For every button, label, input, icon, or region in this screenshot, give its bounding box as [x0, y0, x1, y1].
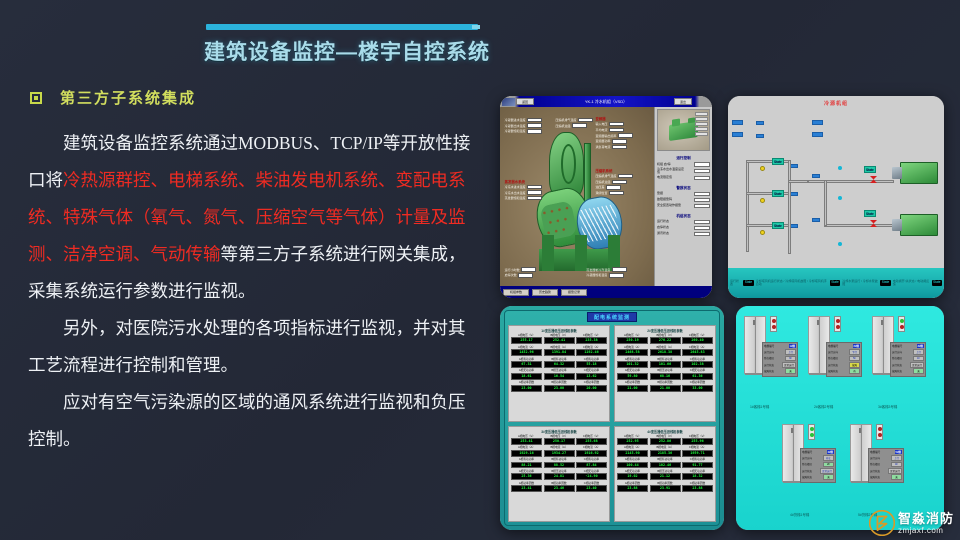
meter-value: 59.80	[617, 373, 648, 380]
meter-value: 23.46	[544, 485, 575, 492]
field-label: 蒸发器饱和温度	[505, 196, 526, 200]
meter-cell: A相功率因数23.00	[511, 381, 542, 391]
power-screen-title: 配电系统监测	[587, 312, 637, 322]
state-badge[interactable]: State	[864, 166, 876, 173]
side-row-value[interactable]	[694, 162, 710, 167]
meter-cell: C相电流（A）1916.92	[576, 446, 607, 456]
field-label: 冷凝器出水温度	[505, 124, 526, 128]
elevator-status-panel[interactable]: 电梯编号3#梯 运行方向上行 所在楼层1F 运行状态正常运行 故障状态无	[890, 342, 926, 377]
piping-schematic: 冷源机组 State State S	[728, 96, 944, 298]
screenshot-panel-elevator: 电梯编号1#梯 运行方向上行 所在楼层3F 运行状态正常运行 故障状态无 1#客…	[736, 306, 944, 530]
field-label: 油压差	[595, 185, 604, 189]
pipe-tag[interactable]	[790, 192, 798, 196]
quadrant-cells: A相电压（V）250.19 B相电压（V）276.22 C相电压（V）260.4…	[617, 334, 713, 392]
row-value: 3F	[785, 356, 796, 361]
field-group-condenser: 冷凝器进水温度 冷凝器出水温度 冷凝器饱和温度	[505, 118, 543, 135]
pipe-tag[interactable]	[812, 120, 823, 125]
field-label: 压缩机排气温度	[595, 174, 616, 178]
field-value-box[interactable]	[527, 123, 542, 128]
meter-value: 21.12	[650, 473, 681, 480]
side-row-label: 电流限定值	[657, 176, 672, 179]
field-value-box[interactable]	[609, 122, 624, 127]
field-value-box[interactable]	[612, 145, 627, 150]
row-label: 故障状态	[764, 369, 774, 373]
row-label: 运行方向	[892, 350, 902, 354]
state-badge[interactable]: State	[772, 190, 784, 197]
meter-cell: C相有功功率91.77	[682, 458, 713, 468]
field-group-title: 蒸发器水系统	[505, 179, 543, 184]
meter-cell: B相有功功率101.66	[650, 358, 681, 368]
pipe-tag[interactable]	[812, 218, 820, 222]
field-group-extra: 蒸发器制冷剂温度 冷凝器饱和温度	[586, 267, 627, 278]
meter-cell: C相无功功率-24.90	[576, 470, 607, 480]
side-row-value[interactable]	[694, 226, 710, 231]
field-label: 压缩机油温	[595, 180, 610, 184]
field-label: 变频器输出频率	[595, 134, 616, 138]
elevator-status-panel[interactable]: 电梯编号2#梯 运行方向下行 所在楼层5F 运行状态故障 故障状态有	[826, 342, 862, 377]
sensor-icon	[838, 242, 842, 246]
meter-value: 2645.83	[682, 349, 713, 356]
meter-cell: C相无功功率18.32	[682, 470, 713, 480]
meter-value: 252.86	[650, 438, 681, 445]
quadrant-title: 4#变压器低压进线柜参数	[617, 429, 713, 434]
chiller-body: 冷凝器进水温度 冷凝器出水温度 冷凝器饱和温度 压缩机排气温度 压缩机油温 蒸发…	[500, 107, 712, 286]
meter-value: 23.88	[617, 485, 648, 492]
row-label: 运行状态	[764, 363, 774, 367]
screenshot-panel-power: 配电系统监测 1#变压器低压进线柜参数 A相电压（V）255.17 B相电压（V…	[500, 306, 724, 530]
chiller-unit-graphic	[900, 214, 938, 236]
panel-header-value: 2#梯	[853, 344, 860, 348]
power-quadrant: 4#变压器低压进线柜参数 A相电压（V）252.95 B相电压（V）252.86…	[614, 426, 716, 523]
meter-value: 67.31	[511, 361, 542, 368]
quadrant-title: 2#变压器低压进线柜参数	[617, 328, 713, 333]
field-value-box[interactable]	[527, 129, 542, 134]
meter-cell: B相无功功率21.12	[650, 470, 681, 480]
meter-cell: B相功率因数21.00	[650, 381, 681, 391]
elevator-indicator-lights	[876, 424, 883, 440]
side-row-value[interactable]	[694, 169, 710, 174]
meter-value: 25.36	[511, 473, 542, 480]
watermark: 智淼消防 zmjaxf.com	[869, 510, 954, 536]
chiller-unit-graphic	[900, 162, 938, 184]
bottom-button-trend[interactable]: 历史趋势	[532, 289, 558, 296]
status-state-box[interactable]: State	[743, 280, 753, 286]
field-label: 平均电流	[595, 128, 607, 132]
screenshot-panel-piping: 冷源机组 State State S	[728, 96, 944, 298]
meter-value: 23.00	[511, 385, 542, 392]
pipe-tag[interactable]	[812, 174, 820, 178]
elevator-status-panel[interactable]: 电梯编号5#梯 运行方向上行 所在楼层4F 运行状态正常运行 故障状态无	[868, 448, 904, 483]
quadrant-title: 1#变压器低压进线柜参数	[511, 328, 607, 333]
meter-value: 18.32	[682, 473, 713, 480]
meter-cell: A相无功功率19.02	[617, 470, 648, 480]
meter-cell: A相电流（A）2468.58	[617, 346, 648, 356]
row-value: 正常运行	[910, 362, 924, 368]
elevator-status-panel[interactable]: 电梯编号4#梯 运行方向停止 所在楼层2F 运行状态正常运行 故障状态无	[800, 448, 836, 483]
chiller-3d-graphic	[537, 132, 623, 268]
field-value-box[interactable]	[609, 273, 624, 278]
meter-cell: C相电流（A）2645.83	[682, 346, 713, 356]
panel-header-label: 电梯编号	[892, 344, 902, 348]
panel-header-value: 1#梯	[789, 344, 796, 348]
state-badge[interactable]: State	[864, 210, 876, 217]
vendor-logo-icon	[502, 98, 515, 106]
pipe-tag[interactable]	[756, 134, 764, 138]
meter-cell: C相功率因数23.40	[576, 482, 607, 492]
row-value: 停止	[823, 455, 834, 461]
row-value: 有	[849, 368, 860, 374]
meter-cell: B相电压（V）250.17	[544, 435, 575, 445]
panel-header-label: 电梯编号	[764, 344, 774, 348]
watermark-text: 智淼消防 zmjaxf.com	[898, 512, 954, 535]
field-group-compressor: 压缩机系统 压缩机排气温度 压缩机油温 油压差 滑阀位置	[595, 168, 633, 197]
meter-cell: B相电压（V）252.86	[650, 435, 681, 445]
row-value: 5F	[849, 356, 860, 361]
field-label: 蒸发器制冷剂温度	[586, 268, 610, 272]
meter-value: 102.38	[682, 361, 713, 368]
paragraph-3: 应对有空气污染源的区域的通风系统进行监视和负压控制。	[28, 384, 480, 458]
field-value-box[interactable]	[618, 133, 633, 138]
field-value-box[interactable]	[618, 174, 633, 179]
meter-value: 1929.16	[511, 450, 542, 457]
field-value-box[interactable]	[612, 139, 627, 144]
meter-value: 1934.27	[544, 450, 575, 457]
pipe-segment	[824, 180, 827, 226]
row-value: 无	[785, 368, 796, 374]
meter-cell: C相功率因数20.00	[576, 381, 607, 391]
status-state-box[interactable]: State	[932, 280, 942, 286]
meter-cell: B相无功功率16.54	[544, 369, 575, 379]
pipe-tag[interactable]	[812, 132, 823, 137]
side-row-value[interactable]	[694, 192, 710, 197]
unit-photo-shape	[669, 121, 698, 141]
bottom-button-params[interactable]: 机组参数	[503, 289, 529, 296]
meter-cell: B相无功功率24.81	[544, 470, 575, 480]
field-value-box[interactable]	[612, 180, 627, 185]
side-row-value[interactable]	[694, 198, 710, 203]
field-label: 滑阀位置	[595, 191, 607, 195]
field-value-box[interactable]	[527, 196, 542, 201]
field-value-box[interactable]	[609, 191, 624, 196]
meter-cell: A相功率因数21.00	[617, 381, 648, 391]
slide-root: 建筑设备监控—楼宇自控系统 第三方子系统集成 建筑设备监控系统通过MODBUS、…	[0, 0, 960, 540]
status-state-box[interactable]: State	[830, 280, 840, 286]
meter-cell: A相有功功率101.32	[617, 358, 648, 368]
meter-cell: B相有功功率64.32	[544, 358, 575, 368]
meter-value: 100.44	[617, 462, 648, 469]
field-value-box[interactable]	[521, 267, 536, 272]
field-value-box[interactable]	[572, 123, 587, 128]
meter-value: 13.62	[576, 373, 607, 380]
elevator-name-label: 3#客梯3号梯	[878, 404, 897, 409]
meter-value: 88.21	[511, 462, 542, 469]
meter-value: 1916.92	[576, 450, 607, 457]
meter-value: 2618.38	[650, 349, 681, 356]
field-value-box[interactable]	[612, 267, 627, 272]
meter-value: 255.68	[576, 438, 607, 445]
meter-value: 18.61	[511, 373, 542, 380]
pipe-tag[interactable]	[732, 120, 743, 125]
valve-icon[interactable]	[760, 166, 765, 171]
side-row-label: 警报	[657, 192, 663, 195]
row-value: 上行	[891, 455, 902, 461]
pipe-header	[808, 180, 894, 183]
meter-value: 87.84	[576, 462, 607, 469]
meter-value: 24.81	[544, 473, 575, 480]
elevator-indicator-lights	[770, 316, 777, 332]
meter-value: 91.77	[682, 462, 713, 469]
pipe-segment	[788, 160, 791, 254]
piping-status-bar: 运行状态 State 冷却塔风机运行状态 / 冷却塔风机故障 / 冷却塔风机手自…	[728, 268, 944, 298]
side-row-value[interactable]	[694, 204, 710, 209]
chiller-foot	[575, 235, 587, 270]
title-accent-rule	[206, 24, 478, 30]
panel-header-value: 3#梯	[917, 344, 924, 348]
meter-value: 64.32	[544, 361, 575, 368]
meter-value: 19.02	[617, 473, 648, 480]
field-value-box[interactable]	[527, 185, 542, 190]
meter-cell: C相有功功率87.84	[576, 458, 607, 468]
meter-cell: A相电流（A）2145.90	[617, 446, 648, 456]
square-bullet-icon	[30, 92, 42, 104]
meter-cell: C相有功功率102.38	[682, 358, 713, 368]
chiller-graphic-area: 冷凝器进水温度 冷凝器出水温度 冷凝器饱和温度 压缩机排气温度 压缩机油温 蒸发…	[500, 107, 654, 286]
panel-header-label: 电梯编号	[870, 450, 880, 454]
row-value: 正常运行	[888, 468, 902, 474]
row-value: 1F	[913, 356, 924, 361]
field-label: 冷凝器进水温度	[505, 118, 526, 122]
meter-cell: B相电压（V）252.41	[544, 334, 575, 344]
elevator-name-label: 2#客梯2号梯	[814, 404, 833, 409]
field-group-runtime: 运行小时数 启停次数	[505, 267, 537, 278]
side-row-value[interactable]	[694, 220, 710, 225]
side-row-label: 冷冻水出水温度设定值	[657, 168, 685, 174]
meter-cell: A相有功功率100.44	[617, 458, 648, 468]
side-section-alarm: 警报状态 警报 故障报警码 安全装置动作报警	[655, 183, 712, 211]
meter-value: 88.52	[544, 462, 575, 469]
titlebar-back-button[interactable]: 返回	[516, 98, 534, 105]
field-group-title: 压缩机系统	[595, 168, 633, 173]
meter-cell: C相有功功率55.18	[576, 358, 607, 368]
meter-value: 252.95	[617, 438, 648, 445]
titlebar-exit-button[interactable]: 退出	[674, 98, 692, 105]
meter-cell: A相有功功率88.21	[511, 458, 542, 468]
meter-value: 16.54	[544, 373, 575, 380]
meter-cell: B相功率因数23.91	[650, 482, 681, 492]
field-label: 满负荷电流	[595, 145, 610, 149]
meter-value: 101.32	[617, 361, 648, 368]
row-label: 故障状态	[828, 369, 838, 373]
power-quadrant: 2#变压器低压进线柜参数 A相电压（V）250.19 B相电压（V）276.22…	[614, 325, 716, 422]
row-label: 运行方向	[802, 456, 812, 460]
row-label: 故障状态	[870, 475, 880, 479]
quadrant-cells: A相电压（V）255.17 B相电压（V）252.41 C相电压（V）235.3…	[511, 334, 607, 392]
side-row-label: 机组 启/停	[657, 163, 671, 166]
meter-value: 1192.46	[576, 349, 607, 356]
elevator-status-panel[interactable]: 电梯编号1#梯 运行方向上行 所在楼层3F 运行状态正常运行 故障状态无	[762, 342, 798, 377]
watermark-url: zmjaxf.com	[898, 527, 954, 535]
meter-cell: C相电压（V）255.68	[576, 435, 607, 445]
row-label: 运行方向	[764, 350, 774, 354]
meter-cell: C相功率因数33.00	[682, 381, 713, 391]
meter-value: 1452.96	[511, 349, 542, 356]
quadrant-cells: A相电压（V）253.41 B相电压（V）250.17 C相电压（V）255.6…	[511, 435, 607, 493]
field-label: 冷冻水进水温度	[505, 185, 526, 189]
side-row-value[interactable]	[694, 232, 710, 237]
row-value: 无	[913, 368, 924, 374]
piping-title: 冷源机组	[728, 100, 944, 107]
valve-icon[interactable]	[760, 230, 765, 235]
meter-cell: A相电流（A）1452.96	[511, 346, 542, 356]
state-badge[interactable]: State	[772, 222, 784, 229]
quadrant-cells: A相电压（V）252.95 B相电压（V）252.86 C相电压（V）255.9…	[617, 435, 713, 493]
chiller-foot	[542, 235, 554, 270]
section-heading: 第三方子系统集成	[30, 87, 196, 108]
meter-cell: C相电流（A）1959.71	[682, 446, 713, 456]
state-badge[interactable]: State	[772, 158, 784, 165]
meter-cell: B相有功功率102.46	[650, 458, 681, 468]
meter-cell: B相电压（V）276.22	[650, 334, 681, 344]
field-label: 压缩机油温	[555, 124, 570, 128]
row-label: 所在楼层	[802, 462, 812, 466]
panel-header-label: 电梯编号	[802, 450, 812, 454]
side-row-label: 故障报警码	[657, 198, 672, 201]
meter-cell: B相有功功率88.52	[544, 458, 575, 468]
meter-value: 235.38	[576, 337, 607, 344]
meter-value: 61.36	[682, 373, 713, 380]
meter-value: 2468.58	[617, 349, 648, 356]
section-heading-label: 第三方子系统集成	[60, 87, 196, 108]
meter-value: 55.18	[576, 361, 607, 368]
meter-cell: B相电流（A）1391.84	[544, 346, 575, 356]
pipe-tag[interactable]	[756, 121, 764, 125]
field-value-box[interactable]	[527, 118, 542, 123]
meter-value: 102.46	[650, 462, 681, 469]
field-value-box[interactable]	[606, 185, 621, 190]
page-title: 建筑设备监控—楼宇自控系统	[204, 36, 490, 66]
row-value: 下行	[849, 349, 860, 355]
meter-value: 101.66	[650, 361, 681, 368]
chiller-foot	[608, 235, 620, 270]
row-label: 故障状态	[892, 369, 902, 373]
row-value: 无	[823, 474, 834, 480]
status-state-box[interactable]: State	[880, 280, 890, 286]
row-value: 上行	[913, 349, 924, 355]
photo-side-buttons[interactable]	[695, 112, 708, 136]
meter-value: 23.41	[511, 485, 542, 492]
row-label: 运行状态	[828, 363, 838, 367]
side-section-unit-status: 机组状态 运行状态 启停状态 通讯状态	[655, 211, 712, 239]
row-value: 正常运行	[782, 362, 796, 368]
meter-value: 23.00	[544, 385, 575, 392]
side-row-value[interactable]	[694, 176, 710, 181]
power-monitor-screen: 配电系统监测 1#变压器低压进线柜参数 A相电压（V）255.17 B相电压（V…	[500, 306, 724, 530]
panel-header-value: 4#梯	[827, 450, 834, 454]
meter-value: 250.17	[544, 438, 575, 445]
meter-value: -24.90	[576, 473, 607, 480]
pipe-header	[824, 224, 894, 227]
field-label: 输入电压	[595, 122, 607, 126]
quadrant-title: 3#变压器低压进线柜参数	[511, 429, 607, 434]
meter-value: 2185.36	[650, 450, 681, 457]
valve-icon[interactable]	[760, 198, 765, 203]
meter-cell: A相无功功率59.80	[617, 369, 648, 379]
meter-value: 1959.71	[682, 450, 713, 457]
meter-cell: C相无功功率13.62	[576, 369, 607, 379]
pipe-segment	[746, 160, 749, 252]
field-value-box[interactable]	[518, 273, 533, 278]
field-value-box[interactable]	[609, 128, 624, 133]
row-value: 2F	[823, 462, 834, 467]
field-label: 冷凝器饱和温度	[586, 273, 607, 277]
field-value-box[interactable]	[578, 118, 593, 123]
status-col-text: 冷却塔风机运行状态 / 冷却塔风机故障 / 冷却塔风机手自动	[756, 280, 828, 287]
field-group-title: 变频器	[595, 116, 633, 121]
sensor-icon	[838, 166, 842, 170]
meter-value: 276.22	[650, 337, 681, 344]
watermark-brand: 智淼消防	[898, 512, 954, 525]
chiller-titlebar: 返回 YK-1 冷水机组（VSD） 退出	[500, 96, 712, 107]
bottom-button-alarms[interactable]: 报警记录	[561, 289, 587, 296]
field-label: 变频器功率	[595, 139, 610, 143]
side-section-title: 运行控制	[657, 156, 710, 161]
row-value: 4F	[891, 462, 902, 467]
field-label: 运行小时数	[505, 268, 520, 272]
pipe-tag[interactable]	[790, 224, 798, 228]
field-label: 冷冻水出水温度	[505, 191, 526, 195]
row-label: 运行方向	[828, 350, 838, 354]
para3-run1: 应对有空气污染源的区域的通风系统进行监视和负压控制。	[28, 392, 466, 449]
row-label: 所在楼层	[892, 356, 902, 360]
side-row-label: 通讯状态	[657, 232, 669, 235]
side-section-title: 警报状态	[657, 186, 710, 191]
unit-photo	[657, 109, 710, 151]
pipe-tag[interactable]	[732, 132, 743, 137]
meter-cell: B相功率因数23.46	[544, 482, 575, 492]
panel-header-label: 电梯编号	[828, 344, 838, 348]
meter-value: 68.16	[650, 373, 681, 380]
status-col-text: 电动阀开/关状态 / 电动阀反馈	[893, 280, 930, 287]
pipe-tag[interactable]	[790, 164, 798, 168]
pipe-segment	[788, 180, 808, 183]
meter-cell: C相电压（V）255.96	[682, 435, 713, 445]
row-value: 无	[891, 474, 902, 480]
row-label: 所在楼层	[764, 356, 774, 360]
meter-value: 23.88	[682, 485, 713, 492]
sensor-icon	[838, 196, 842, 200]
elevator-indicator-lights	[834, 316, 841, 332]
meter-cell: A相电压（V）252.95	[617, 435, 648, 445]
field-value-box[interactable]	[527, 190, 542, 195]
meter-cell: A相电压（V）255.17	[511, 334, 542, 344]
meter-cell: C相功率因数23.88	[682, 482, 713, 492]
meter-cell: B相电流（A）2618.38	[650, 346, 681, 356]
meter-cell: A相无功功率18.61	[511, 369, 542, 379]
meter-value: 1391.84	[544, 349, 575, 356]
meter-value: 20.00	[576, 385, 607, 392]
paragraph-2: 另外，对医院污水处理的各项指标进行监视，并对其工艺流程进行控制和管理。	[28, 310, 480, 384]
field-group-secondary: 压缩机排气温度 压缩机油温	[555, 118, 593, 129]
side-row-label: 启停状态	[657, 226, 669, 229]
meter-value: 21.00	[617, 385, 648, 392]
meter-value: 2145.90	[617, 450, 648, 457]
meter-cell: B相无功功率68.16	[650, 369, 681, 379]
chiller-bottom-toolbar: 机组参数 历史趋势 报警记录	[500, 286, 712, 298]
power-quadrant: 1#变压器低压进线柜参数 A相电压（V）255.17 B相电压（V）252.41…	[508, 325, 610, 422]
brand-logo-icon	[869, 510, 895, 536]
meter-value: 255.17	[511, 337, 542, 344]
para2-run1: 另外，对医院污水处理的各项指标进行监视，并对其工艺流程进行控制和管理。	[28, 318, 466, 375]
